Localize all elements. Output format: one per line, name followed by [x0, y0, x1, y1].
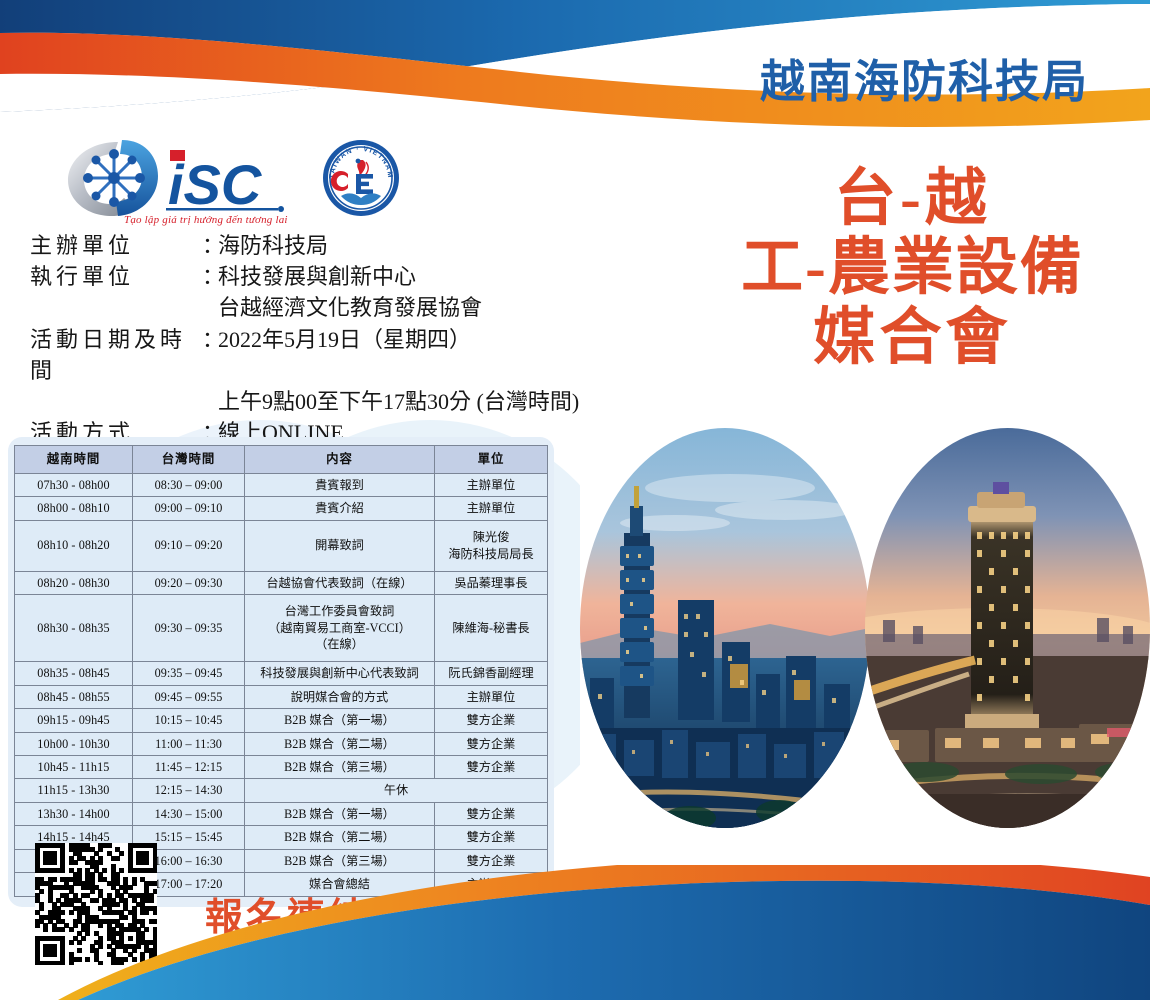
cell-unit: 主辦單位: [435, 497, 548, 520]
ce-seal-icon: TAIWAN · VIETNAM: [321, 138, 401, 218]
title-line-2: 工-農業設備: [690, 234, 1135, 303]
cell-taiwan-time: 11:00 – 11:30: [133, 732, 245, 755]
cell-content: B2B 媒合（第一場）: [245, 802, 435, 825]
table-row: 08h35 - 08h4509:35 – 09:45科技發展與創新中心代表致詞阮…: [15, 662, 548, 685]
agenda-table: 越南時間 台灣時間 内容 單位 07h30 - 08h0008:30 – 09:…: [14, 445, 548, 897]
cell-unit: 吳品蓁理事長: [435, 571, 548, 594]
cell-vietnam-time: 08h45 - 08h55: [15, 685, 133, 708]
cell-vietnam-time: 09h15 - 09h45: [15, 709, 133, 732]
column-header-vietnam-time: 越南時間: [15, 446, 133, 474]
cell-unit: 主辦單位: [435, 685, 548, 708]
column-header-unit: 單位: [435, 446, 548, 474]
poster-canvas: 越南海防科技局: [0, 0, 1150, 1000]
organization-title: 越南海防科技局: [760, 45, 1089, 110]
cell-vietnam-time: 13h30 - 14h00: [15, 802, 133, 825]
logo-row: iSC Tạo lập giá trị hướng đến tương lai …: [62, 132, 401, 224]
cell-taiwan-time: 09:00 – 09:10: [133, 497, 245, 520]
page-title: 台-越 工-農業設備 媒合會: [690, 165, 1135, 373]
cell-content: 貴賓報到: [245, 473, 435, 496]
cell-vietnam-time: 08h00 - 08h10: [15, 497, 133, 520]
cell-unit: 雙方企業: [435, 732, 548, 755]
cell-unit: 雙方企業: [435, 709, 548, 732]
table-row: 08h20 - 08h3009:20 – 09:30台越協會代表致詞（在線）吳品…: [15, 571, 548, 594]
cell-content: 台灣工作委員會致詞（越南貿易工商室-VCCI）（在線）: [245, 595, 435, 662]
cell-content: B2B 媒合（第三場）: [245, 756, 435, 779]
isc-logo: iSC Tạo lập giá trị hướng đến tương lai: [62, 132, 287, 224]
cell-unit: 主辦單位: [435, 473, 548, 496]
cell-content: 貴賓介紹: [245, 497, 435, 520]
cell-taiwan-time: 09:10 – 09:20: [133, 520, 245, 571]
cell-vietnam-time: 10h00 - 10h30: [15, 732, 133, 755]
info-colon: ：: [202, 324, 218, 355]
cell-unit: 主辦單位: [435, 873, 548, 896]
agenda-panel: 越南時間 台灣時間 内容 單位 07h30 - 08h0008:30 – 09:…: [8, 437, 554, 907]
cell-unit: 雙方企業: [435, 802, 548, 825]
cell-taiwan-time: 11:45 – 12:15: [133, 756, 245, 779]
table-row: 08h10 - 08h2009:10 – 09:20開幕致詞陳光俊海防科技局局長: [15, 520, 548, 571]
cell-taiwan-time: 08:30 – 09:00: [133, 473, 245, 496]
cell-taiwan-time: 09:20 – 09:30: [133, 571, 245, 594]
info-label: 活動日期及時間: [30, 324, 202, 386]
vietnam-city-skyline-photo: [865, 428, 1150, 828]
info-subvalue: 台越經濟文化教育發展協會: [30, 292, 630, 323]
info-value: 海防科技局: [218, 230, 630, 261]
registration-qr-code[interactable]: [35, 843, 157, 965]
title-line-3: 媒合會: [690, 304, 1135, 373]
info-row: 執行單位 ： 科技發展與創新中心: [30, 261, 630, 292]
table-row: 11h15 - 13h3012:15 – 14:30午休: [15, 779, 548, 802]
cell-unit: 陳光俊海防科技局局長: [435, 520, 548, 571]
cell-unit: 阮氏錦香副經理: [435, 662, 548, 685]
column-header-content: 内容: [245, 446, 435, 474]
cell-content: 午休: [245, 779, 548, 802]
isc-logo-mark: iSC: [62, 132, 287, 224]
agenda-table-body: 07h30 - 08h0008:30 – 09:00貴賓報到主辦單位08h00 …: [15, 473, 548, 896]
cell-vietnam-time: 08h20 - 08h30: [15, 571, 133, 594]
table-row: 09h15 - 09h4510:15 – 10:45B2B 媒合（第一場）雙方企…: [15, 709, 548, 732]
registration-link-label: 報名連結: [205, 886, 369, 941]
cell-unit: 雙方企業: [435, 756, 548, 779]
info-subvalue: 上午9點00至下午17點30分 (台灣時間): [30, 386, 630, 417]
isc-tagline: Tạo lập giá trị hướng đến tương lai: [124, 214, 288, 226]
cell-vietnam-time: 10h45 - 11h15: [15, 756, 133, 779]
info-row: 活動日期及時間 ： 2022年5月19日（星期四）: [30, 324, 630, 386]
cell-content: B2B 媒合（第三場）: [245, 849, 435, 872]
info-label: 執行單位: [30, 261, 202, 292]
info-label: 主辦單位: [30, 230, 202, 261]
cell-vietnam-time: 08h30 - 08h35: [15, 595, 133, 662]
table-row: 08h30 - 08h3509:30 – 09:35台灣工作委員會致詞（越南貿易…: [15, 595, 548, 662]
column-header-taiwan-time: 台灣時間: [133, 446, 245, 474]
table-row: 13h30 - 14h0014:30 – 15:00B2B 媒合（第一場）雙方企…: [15, 802, 548, 825]
cell-taiwan-time: 09:35 – 09:45: [133, 662, 245, 685]
cell-vietnam-time: 07h30 - 08h00: [15, 473, 133, 496]
table-row: 08h00 - 08h1009:00 – 09:10貴賓介紹主辦單位: [15, 497, 548, 520]
table-row: 07h30 - 08h0008:30 – 09:00貴賓報到主辦單位: [15, 473, 548, 496]
cell-content: B2B 媒合（第一場）: [245, 709, 435, 732]
table-row: 10h00 - 10h3011:00 – 11:30B2B 媒合（第二場）雙方企…: [15, 732, 548, 755]
cell-content: 說明媒合會的方式: [245, 685, 435, 708]
info-colon: ：: [202, 230, 218, 261]
svg-text:iSC: iSC: [168, 153, 263, 216]
info-row: 主辦單位 ： 海防科技局: [30, 230, 630, 261]
cell-taiwan-time: 14:30 – 15:00: [133, 802, 245, 825]
cell-content: B2B 媒合（第二場）: [245, 826, 435, 849]
taipei-skyline-photo: [580, 428, 870, 828]
cell-vietnam-time: 08h35 - 08h45: [15, 662, 133, 685]
cell-taiwan-time: 12:15 – 14:30: [133, 779, 245, 802]
table-row: 10h45 - 11h1511:45 – 12:15B2B 媒合（第三場）雙方企…: [15, 756, 548, 779]
cell-content: B2B 媒合（第二場）: [245, 732, 435, 755]
cell-unit: 雙方企業: [435, 849, 548, 872]
table-header-row: 越南時間 台灣時間 内容 單位: [15, 446, 548, 474]
ce-seal-logo: TAIWAN · VIETNAM: [321, 138, 401, 218]
cell-content: 開幕致詞: [245, 520, 435, 571]
cell-vietnam-time: 08h10 - 08h20: [15, 520, 133, 571]
cell-taiwan-time: 09:45 – 09:55: [133, 685, 245, 708]
info-value: 2022年5月19日（星期四）: [218, 324, 630, 355]
cell-content: 科技發展與創新中心代表致詞: [245, 662, 435, 685]
photo-group: [560, 418, 1150, 838]
info-colon: ：: [202, 261, 218, 292]
cell-content: 台越協會代表致詞（在線）: [245, 571, 435, 594]
cell-unit: 雙方企業: [435, 826, 548, 849]
table-row: 08h45 - 08h5509:45 – 09:55說明媒合會的方式主辦單位: [15, 685, 548, 708]
qr-canvas[interactable]: [35, 843, 157, 965]
info-value: 科技發展與創新中心: [218, 261, 630, 292]
cell-vietnam-time: 11h15 - 13h30: [15, 779, 133, 802]
title-line-1: 台-越: [690, 165, 1135, 234]
cell-taiwan-time: 10:15 – 10:45: [133, 709, 245, 732]
cell-unit: 陳維海-秘書長: [435, 595, 548, 662]
cell-taiwan-time: 09:30 – 09:35: [133, 595, 245, 662]
